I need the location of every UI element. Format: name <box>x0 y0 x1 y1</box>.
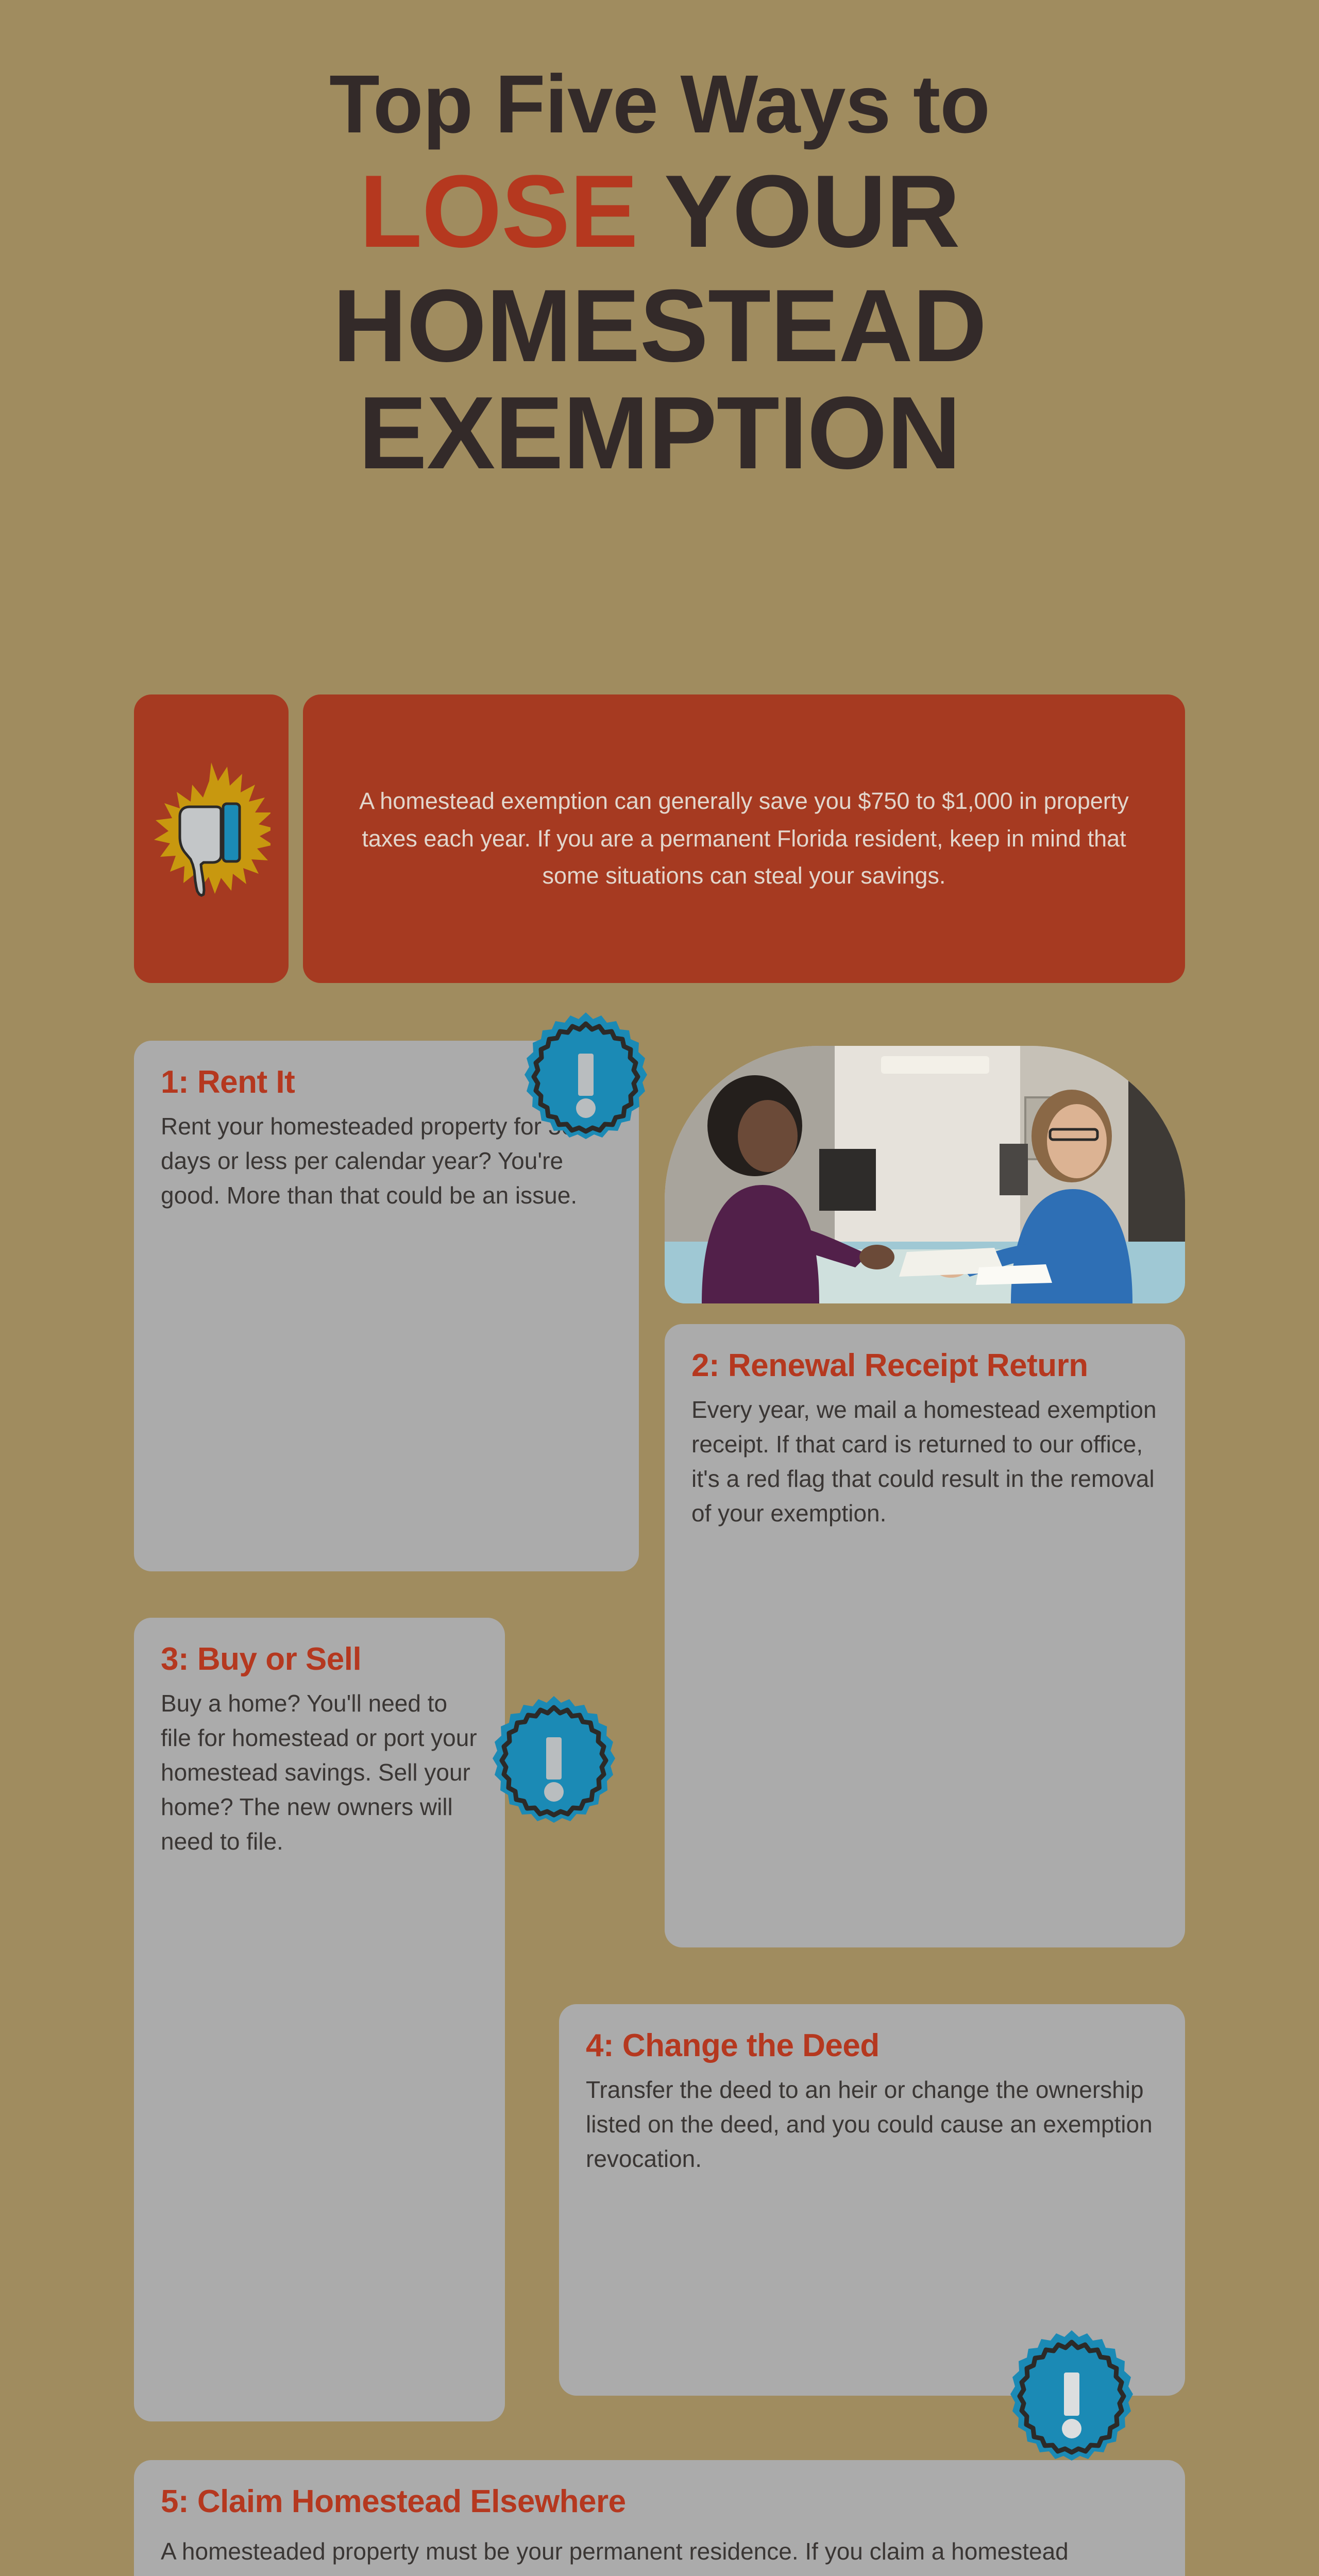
alert-badge-3 <box>1002 2329 1141 2488</box>
card-body: Every year, we mail a homestead exemptio… <box>691 1393 1158 1531</box>
alert-badge-1 <box>516 1011 655 1166</box>
title-line-2: LOSE YOUR <box>0 159 1319 264</box>
office-counter-photo <box>665 1046 1185 1303</box>
card-renewal-receipt-return: 2: Renewal Receipt Return Every year, we… <box>665 1324 1185 1947</box>
intro-section: A homestead exemption can generally save… <box>134 694 1185 983</box>
card-body: Buy a home? You'll need to file for home… <box>161 1686 478 1859</box>
card-body: A homesteaded property must be your perm… <box>161 2534 1158 2576</box>
card-heading: 5: Claim Homestead Elsewhere <box>161 2484 1158 2520</box>
title-line-3: HOMESTEAD <box>0 274 1319 379</box>
title-line-4: EXEMPTION <box>0 381 1319 486</box>
title-line-1: Top Five Ways to <box>0 62 1319 146</box>
intro-text: A homestead exemption can generally save… <box>332 783 1156 895</box>
title-line-2-rest: YOUR <box>638 154 960 269</box>
title-accent-lose: LOSE <box>359 154 638 269</box>
card-body: Transfer the deed to an heir or change t… <box>586 2073 1158 2176</box>
card-buy-or-sell: 3: Buy or Sell Buy a home? You'll need t… <box>134 1618 505 2421</box>
intro-text-box: A homestead exemption can generally save… <box>303 694 1185 983</box>
infographic-page: Top Five Ways to LOSE YOUR HOMESTEAD EXE… <box>0 0 1319 2576</box>
page-title: Top Five Ways to LOSE YOUR HOMESTEAD EXE… <box>0 62 1319 486</box>
intro-icon-box <box>134 694 289 983</box>
alert-badge-2 <box>484 1695 623 1850</box>
thumbs-down-burst-icon <box>152 761 270 916</box>
card-heading: 4: Change the Deed <box>586 2028 1158 2064</box>
card-heading: 3: Buy or Sell <box>161 1641 478 1678</box>
card-heading: 2: Renewal Receipt Return <box>691 1348 1158 1384</box>
